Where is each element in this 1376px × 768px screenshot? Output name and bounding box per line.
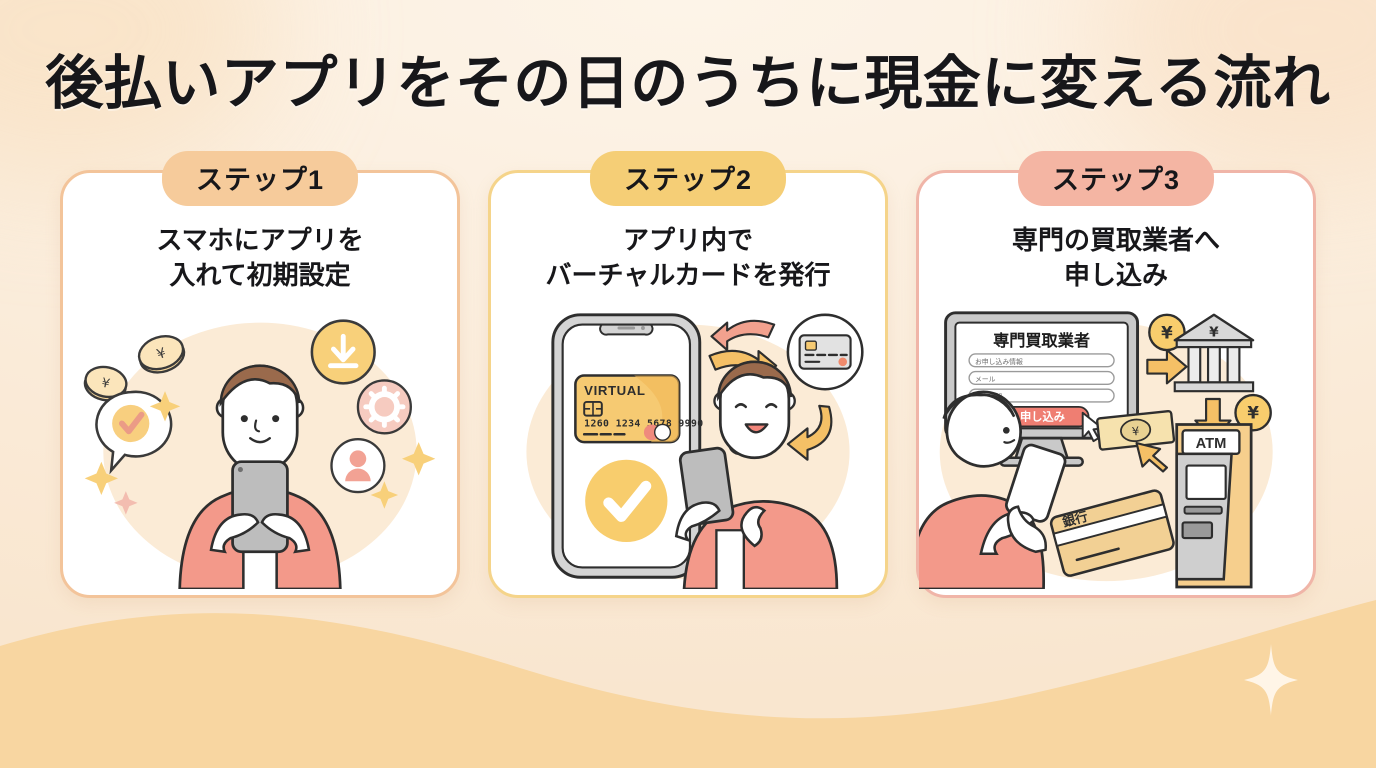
atm-machine-icon: ATM	[1177, 424, 1251, 587]
step-title-3-line1: 専門の買取業者へ	[929, 223, 1303, 258]
step-illustration-1: ¥ ¥	[63, 305, 457, 589]
form-field-label-1: お申し込み情報	[975, 357, 1023, 366]
submit-button-label: 申し込み	[1020, 410, 1065, 424]
steps-row: ステップ1 スマホにアプリを 入れて初期設定 ¥	[0, 170, 1376, 598]
monitor-heading: 専門買取業者	[993, 331, 1090, 350]
step-card-2[interactable]: ステップ2 アプリ内で バーチャルカードを発行	[488, 170, 888, 598]
check-circle-icon	[585, 460, 667, 542]
svg-text:¥: ¥	[1209, 324, 1219, 340]
step-title-2: アプリ内で バーチャルカードを発行	[491, 217, 885, 293]
page-title-wrap: 後払いアプリをその日のうちに現金に変える流れ	[0, 36, 1376, 120]
step-title-3-line2: 申し込み	[929, 258, 1303, 293]
step-title-2-line1: アプリ内で	[501, 223, 875, 258]
download-icon	[312, 321, 375, 384]
step-illustration-3: 専門買取業者 お申し込み情報 メール 個人情報 申し込み	[919, 305, 1313, 589]
gear-icon	[358, 380, 411, 433]
step-title-1: スマホにアプリを 入れて初期設定	[63, 217, 457, 293]
step-title-1-line1: スマホにアプリを	[73, 223, 447, 258]
svg-text:¥: ¥	[1247, 404, 1259, 423]
step-title-3: 専門の買取業者へ 申し込み	[919, 217, 1313, 293]
infographic-stage: 後払いアプリをその日のうちに現金に変える流れ ステップ1 スマホにアプリを 入れ…	[0, 0, 1376, 768]
step-illustration-2: VIRTUAL 1260 1234 5678 9990	[491, 305, 885, 589]
banknote-icon: ¥	[1097, 411, 1174, 450]
step-card-1[interactable]: ステップ1 スマホにアプリを 入れて初期設定 ¥	[60, 170, 460, 598]
virtual-card-number: 1260 1234 5678 9990	[584, 418, 703, 429]
bottom-wave-decoration	[0, 568, 1376, 768]
sparkle-icon	[1244, 644, 1298, 716]
step-badge-3: ステップ3	[1018, 151, 1214, 206]
form-field-label-2: メール	[975, 376, 996, 383]
profile-icon	[331, 439, 384, 492]
step-title-2-line2: バーチャルカードを発行	[501, 258, 875, 293]
atm-label: ATM	[1196, 436, 1227, 452]
credit-card-badge-icon	[788, 315, 862, 389]
virtual-card-label: VIRTUAL	[584, 383, 645, 398]
step-badge-1: ステップ1	[162, 151, 358, 206]
step-card-3[interactable]: ステップ3 専門の買取業者へ 申し込み 専門買取業者 お申し込み情報	[916, 170, 1316, 598]
step-badge-2: ステップ2	[590, 151, 786, 206]
svg-text:¥: ¥	[1161, 323, 1173, 342]
svg-text:¥: ¥	[1131, 424, 1140, 439]
page-title: 後払いアプリをその日のうちに現金に変える流れ	[0, 36, 1376, 120]
step-title-1-line2: 入れて初期設定	[73, 258, 447, 293]
